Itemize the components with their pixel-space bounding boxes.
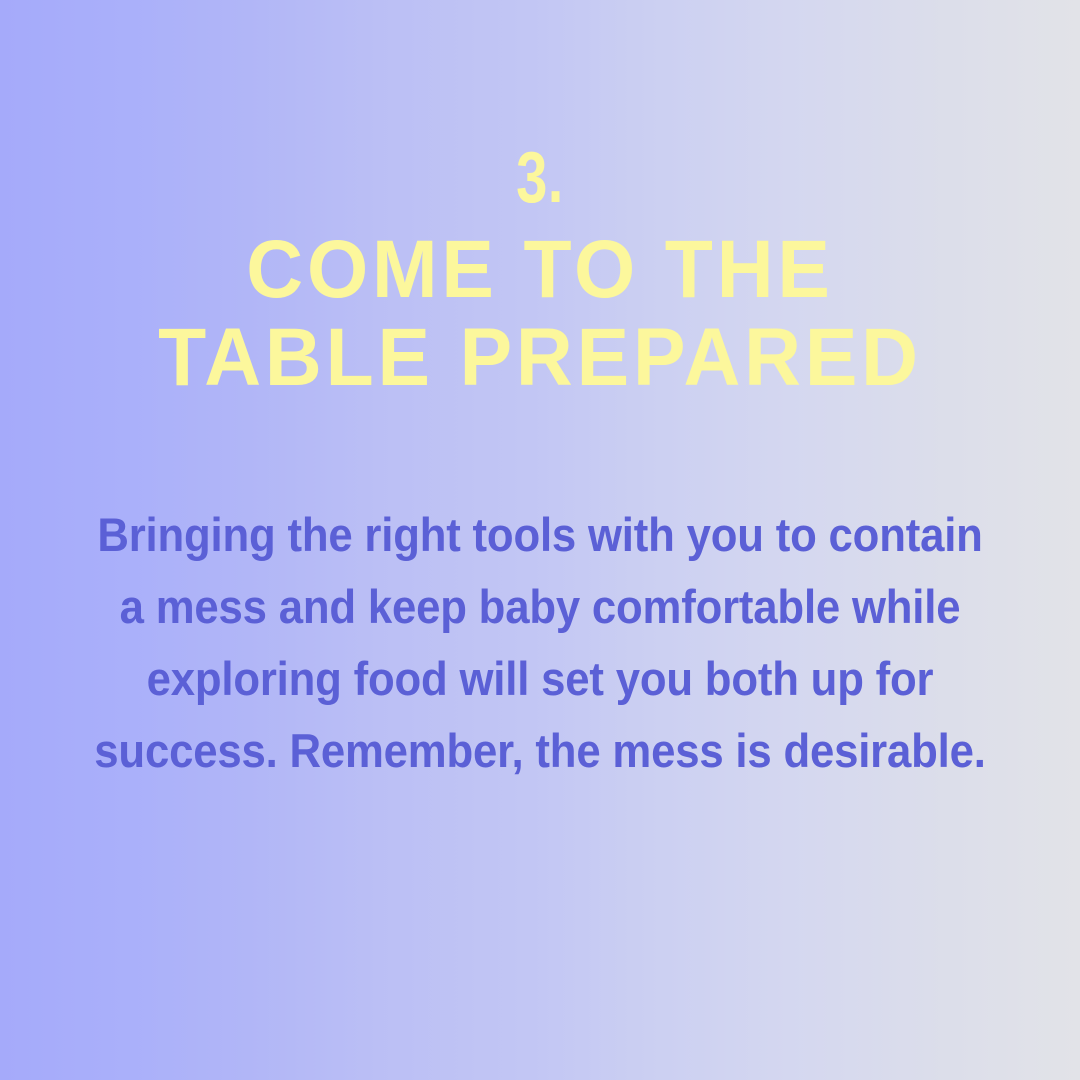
slide-content: 3. COME TO THE TABLE PREPARED Bringing t… xyxy=(0,0,1080,787)
body-line: a mess and keep baby comfortable while xyxy=(75,571,1005,643)
body-line: Bringing the right tools with you to con… xyxy=(75,499,1005,571)
step-number: 3. xyxy=(145,0,934,210)
slide-canvas: 3. COME TO THE TABLE PREPARED Bringing t… xyxy=(0,0,1080,1080)
body-line: success. Remember, the mess is desirable… xyxy=(75,715,1005,787)
page-title: COME TO THE TABLE PREPARED xyxy=(156,210,924,403)
body-line: exploring food will set you both up for xyxy=(75,643,1005,715)
body-paragraph: Bringing the right tools with you to con… xyxy=(75,403,1005,787)
